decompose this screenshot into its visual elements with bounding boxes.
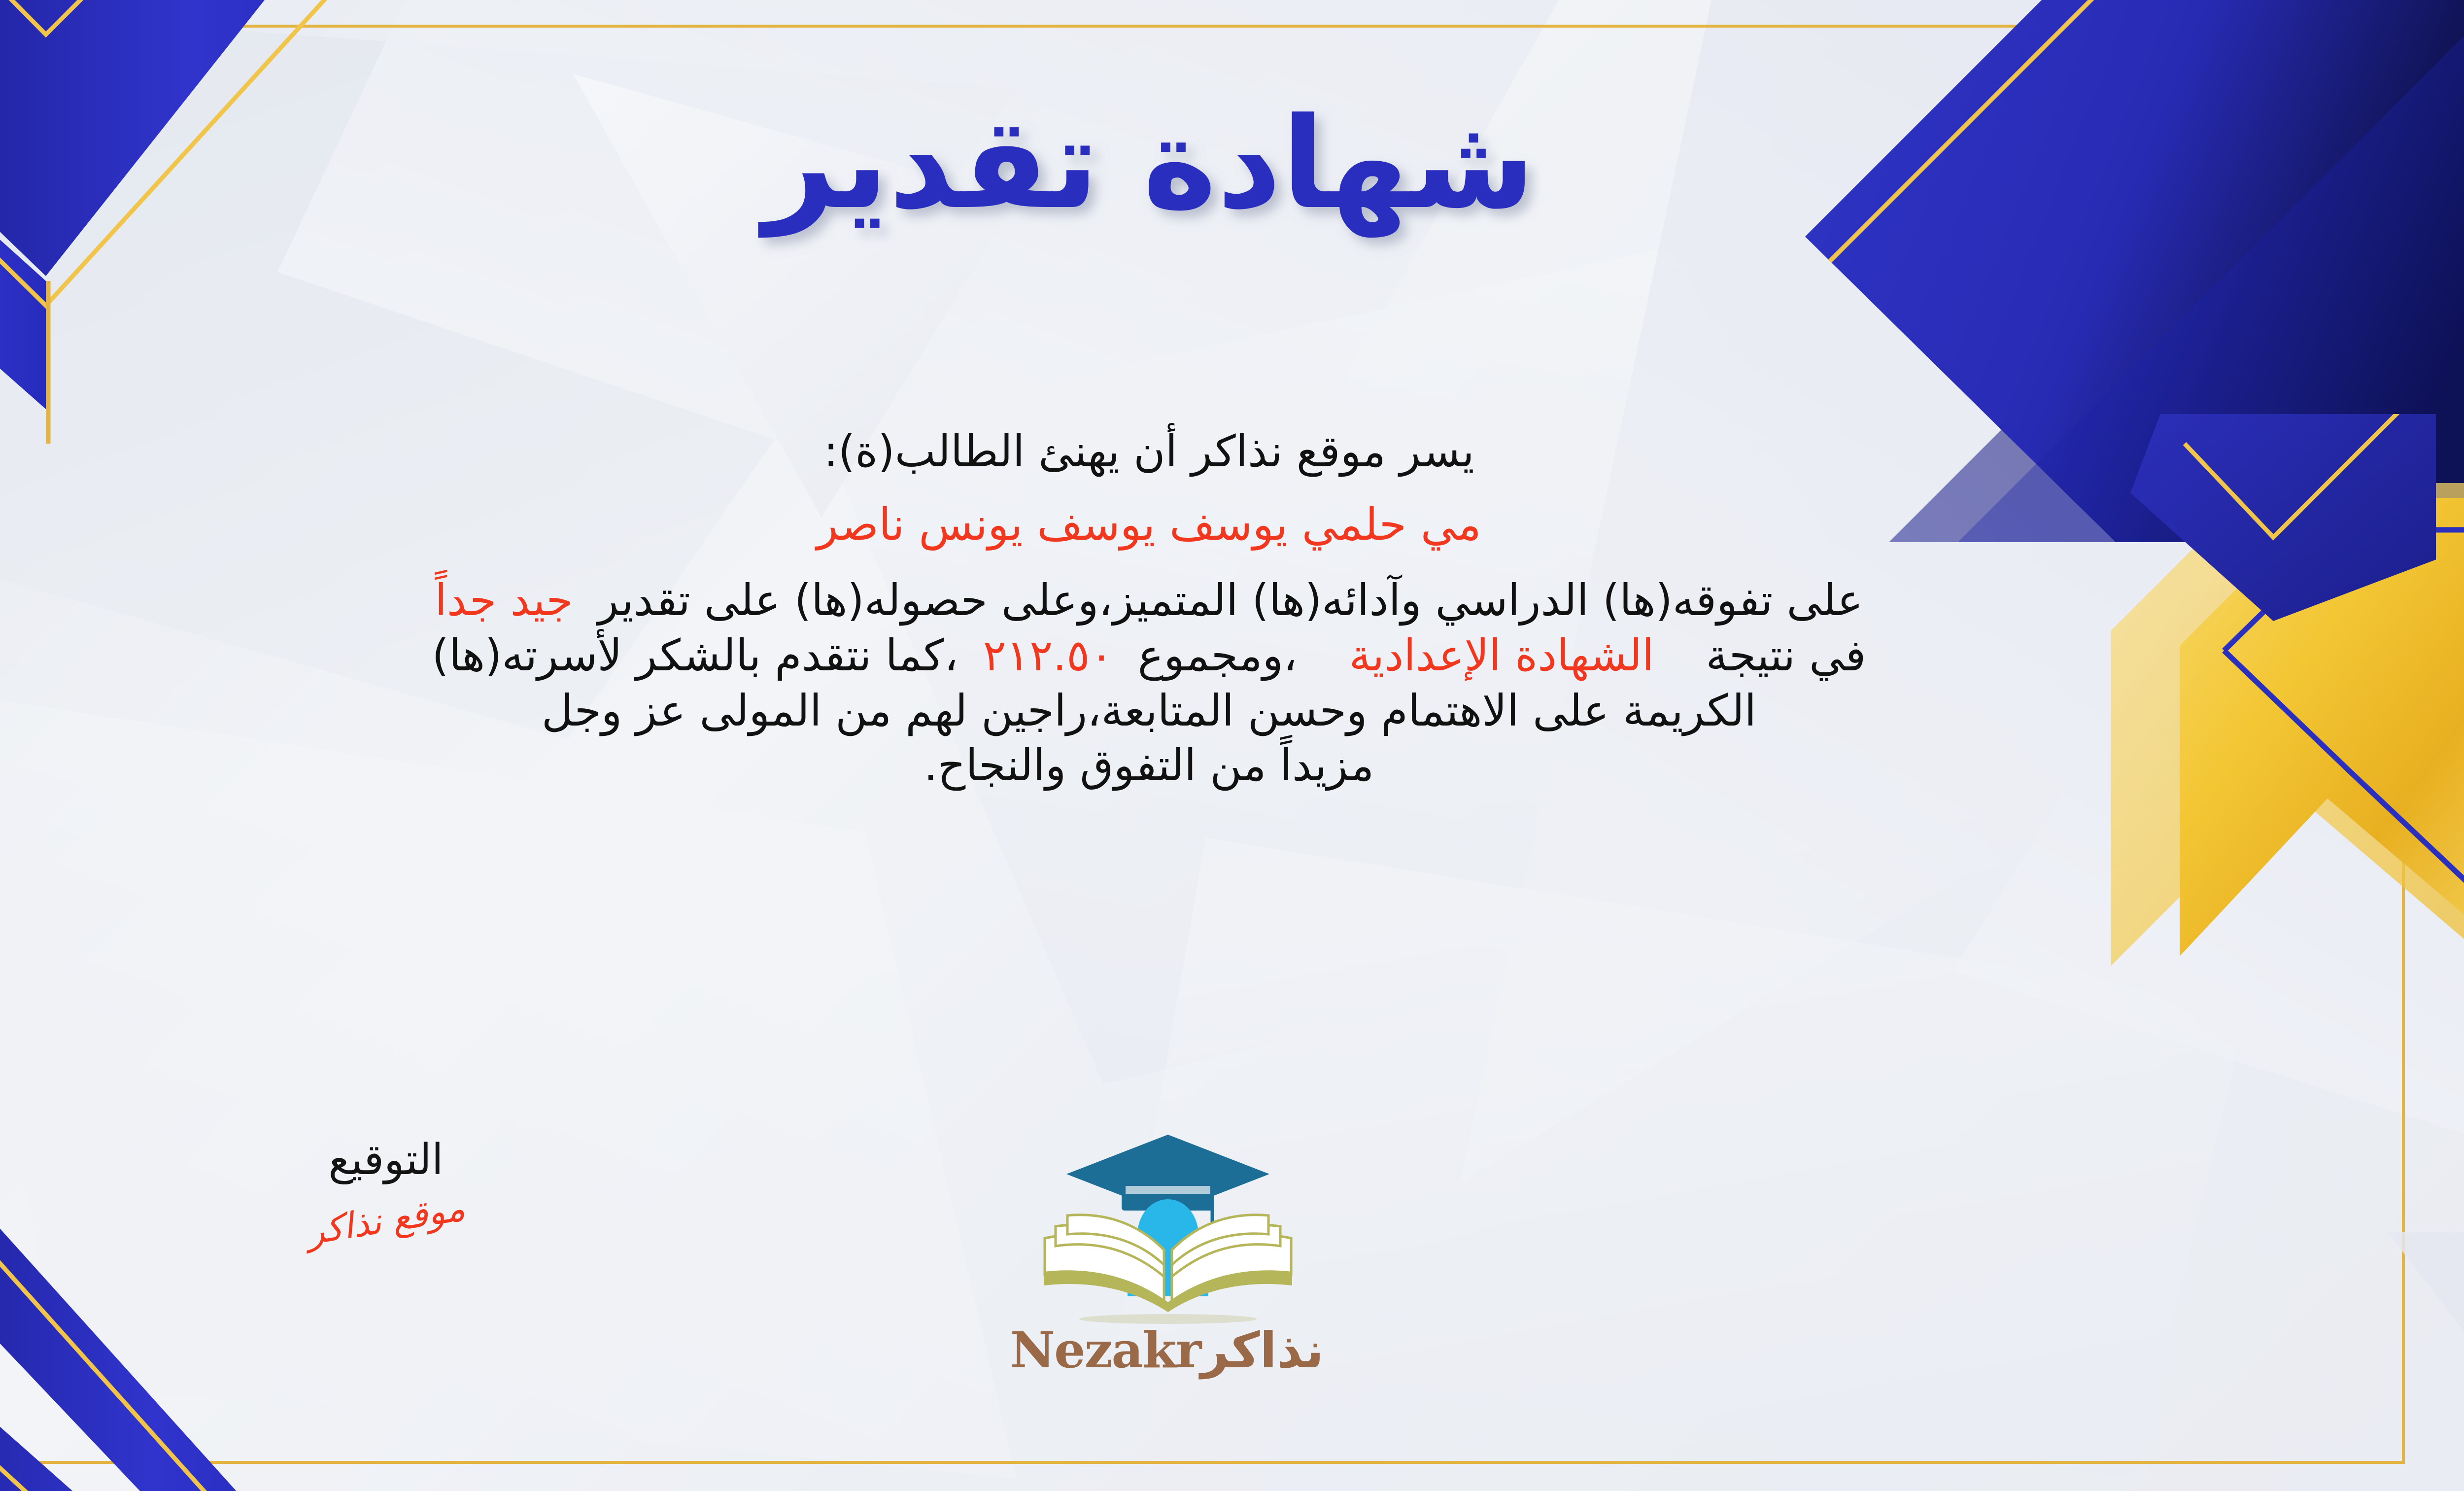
certificate-body: يسر موقع نذاكر أن يهنئ الطالب(ة): مي حلم…	[0, 424, 2370, 793]
total-score: ٢١٢.٥٠	[983, 630, 1113, 681]
total-label: ،ومجموع	[1138, 630, 1298, 681]
logo-latin-name: Nezakr	[1010, 1321, 1201, 1379]
gratitude-line: الكريمة على الاهتمام وحسن المتابعة،راجين…	[0, 683, 2370, 738]
logo-wordmark: Nezakrنذاكر	[950, 1321, 1384, 1379]
signature-mark-wrap: موقع نذاكر	[208, 1201, 563, 1240]
intro-line: يسر موقع نذاكر أن يهنئ الطالب(ة):	[0, 424, 2370, 479]
result-prefix: في نتيجة	[1706, 630, 1866, 681]
achievement-line: على تفوقه(ها) الدراسي وآدائه(ها) المتميز…	[0, 573, 2370, 628]
grade-value: جيد جداً	[435, 575, 573, 625]
thanks-text: ،كما نتقدم بالشكر لأسرته(ها)	[432, 630, 958, 681]
student-name: مي حلمي يوسف يوسف يونس ناصر	[0, 497, 2370, 553]
signature-label: التوقيع	[208, 1139, 563, 1181]
signature-block: التوقيع موقع نذاكر	[208, 1139, 563, 1240]
closing-line: مزيداً من التفوق والنجاح.	[0, 738, 2370, 793]
logo-arabic-name: نذاكر	[1200, 1321, 1324, 1379]
exam-name: الشهادة الإعدادية	[1349, 630, 1654, 681]
certificate-canvas: شهادة تقدير يسر موقع نذاكر أن يهنئ الطال…	[0, 0, 2464, 1491]
site-logo: Nezakrنذاكر	[950, 1129, 1384, 1379]
exam-result-line: في نتيجةالشهادة الإعدادية،ومجموع٢١٢.٥٠،ك…	[0, 628, 2370, 683]
graduation-cap-book-icon	[1039, 1129, 1295, 1326]
achievement-text: على تفوقه(ها) الدراسي وآدائه(ها) المتميز…	[598, 575, 1863, 625]
